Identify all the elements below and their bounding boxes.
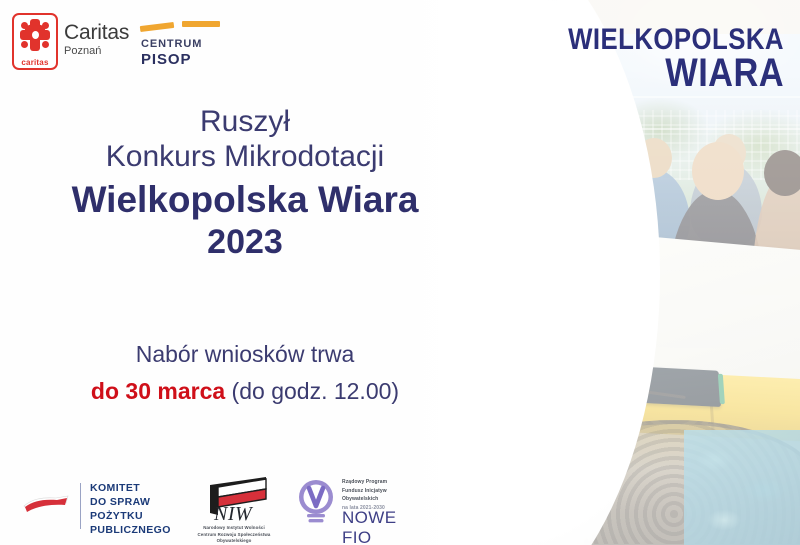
footer-logos: KOMITET DO SPRAW POŻYTKU PUBLICZNEGO NIW… xyxy=(0,471,420,539)
deadline-suffix: (do godz. 12.00) xyxy=(225,378,399,404)
niw-subtitle: Narodowy Instytut Wolności Centrum Rozwo… xyxy=(188,525,280,545)
poster-canvas: caritas Caritas Poznań CENTRUM PISOP WIE… xyxy=(0,0,800,545)
komitet-divider xyxy=(80,483,81,529)
komitet-line-4: PUBLICZNEGO xyxy=(90,524,171,538)
niw-acronym: NIW xyxy=(214,503,252,526)
photo-person-black-head xyxy=(692,142,744,200)
nowefio-subtitle-2: Fundusz Inicjatyw xyxy=(342,487,387,496)
photo-rail-1 xyxy=(400,96,800,98)
pisop-line1: CENTRUM xyxy=(141,38,202,50)
pisop-logo: CENTRUM PISOP xyxy=(138,18,224,70)
komitet-line-1: KOMITET xyxy=(90,482,171,496)
komitet-line-3: POŻYTKU xyxy=(90,510,171,524)
caritas-heart-inner xyxy=(32,31,39,39)
deadline-highlight: do 30 marca xyxy=(91,378,225,404)
polish-flag-icon xyxy=(22,495,72,515)
komitet-logo: KOMITET DO SPRAW POŻYTKU PUBLICZNEGO xyxy=(22,477,172,533)
pisop-line2: PISOP xyxy=(141,51,191,68)
nowefio-name: NOWE FIO xyxy=(342,508,412,545)
caritas-badge-word: caritas xyxy=(12,58,58,67)
headline-line-4: 2023 xyxy=(0,222,490,263)
niw-logo: NIW Narodowy Instytut Wolności Centrum R… xyxy=(188,475,280,535)
niw-subtitle-2: Centrum Rozwoju Społeczeństwa Obywatelsk… xyxy=(188,532,280,545)
caritas-wordmark: Caritas Poznań xyxy=(64,22,129,57)
photo-person-patterned-head xyxy=(764,150,800,196)
brand-line-1: WIELKOPOLSKA xyxy=(568,25,784,54)
brand-wordmark: WIELKOPOLSKA WIARA xyxy=(568,25,784,94)
nowefio-subtitle-1: Rządowy Program xyxy=(342,478,387,487)
caritas-city: Poznań xyxy=(64,46,129,57)
main-headline: Ruszył Konkurs Mikrodotacji Wielkopolska… xyxy=(0,104,490,263)
pisop-bars-icon-2 xyxy=(182,21,220,27)
headline-line-3: Wielkopolska Wiara xyxy=(0,177,490,222)
caritas-cross-heart-icon xyxy=(20,19,50,51)
deadline-line-1: Nabór wniosków trwa xyxy=(0,340,490,370)
photo-floral-fabric xyxy=(684,430,800,545)
headline-line-1: Ruszył xyxy=(0,104,490,139)
brand-line-2: WIARA xyxy=(568,54,784,93)
nowefio-logo: Rządowy Program Fundusz Inicjatyw Obywat… xyxy=(292,475,412,535)
caritas-logo: caritas xyxy=(12,13,58,70)
lightbulb-v-icon xyxy=(292,477,340,527)
deadline-line-2: do 30 marca (do godz. 12.00) xyxy=(0,376,490,407)
komitet-line-2: DO SPRAW xyxy=(90,496,171,510)
photo-notebook xyxy=(609,365,721,407)
caritas-name: Caritas xyxy=(64,22,129,43)
photo-beer-glass xyxy=(552,358,580,402)
komitet-text: KOMITET DO SPRAW POŻYTKU PUBLICZNEGO xyxy=(90,482,171,537)
nowefio-subtitle: Rządowy Program Fundusz Inicjatyw Obywat… xyxy=(342,478,387,512)
nowefio-subtitle-3: Obywatelskich xyxy=(342,495,387,504)
deadline-block: Nabór wniosków trwa do 30 marca (do godz… xyxy=(0,340,490,407)
niw-subtitle-1: Narodowy Instytut Wolności xyxy=(188,525,280,532)
headline-line-2: Konkurs Mikrodotacji xyxy=(0,139,490,174)
pisop-bars-icon xyxy=(140,22,174,32)
photo-person-denim-head xyxy=(636,138,672,178)
photo-window-post-2 xyxy=(548,0,557,250)
header-logos: caritas Caritas Poznań CENTRUM PISOP xyxy=(0,0,420,96)
